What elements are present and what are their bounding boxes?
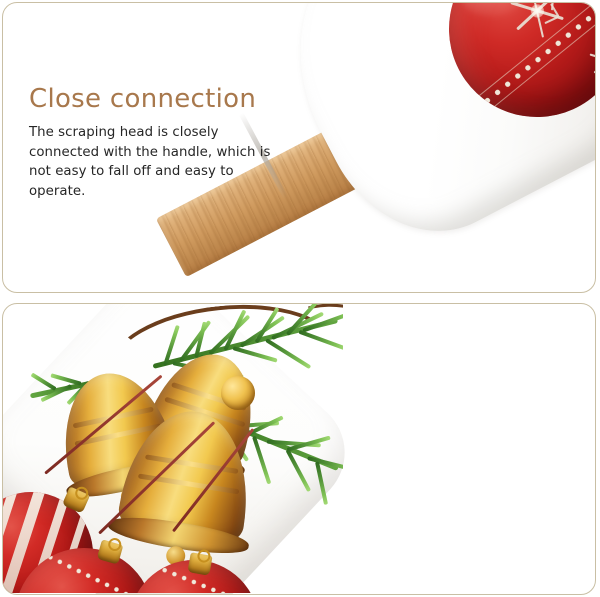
ornament-dot-band: [15, 548, 153, 593]
feature-panel-radian-design: Radian design Double sided arc design, u…: [2, 303, 596, 595]
red-ornament-ball: [15, 548, 153, 593]
product-photo-radian-design: [3, 304, 595, 593]
golden-bell: [103, 401, 270, 570]
panel-inner-bottom: Radian design Double sided arc design, u…: [3, 304, 595, 594]
bell-knob: [221, 376, 255, 410]
blade-print-artwork: [3, 304, 343, 593]
feature-panel-close-connection: Close connection The scraping head is cl…: [2, 2, 596, 293]
panel-inner-top: Close connection The scraping head is cl…: [3, 3, 595, 292]
infographic-page: Close connection The scraping head is cl…: [0, 0, 600, 597]
feature-text-close-connection: Close connection The scraping head is cl…: [29, 85, 291, 201]
feature-heading: Close connection: [29, 85, 291, 114]
ornament-cap: [187, 552, 212, 576]
feature-body: The scraping head is closely connected w…: [29, 123, 291, 201]
